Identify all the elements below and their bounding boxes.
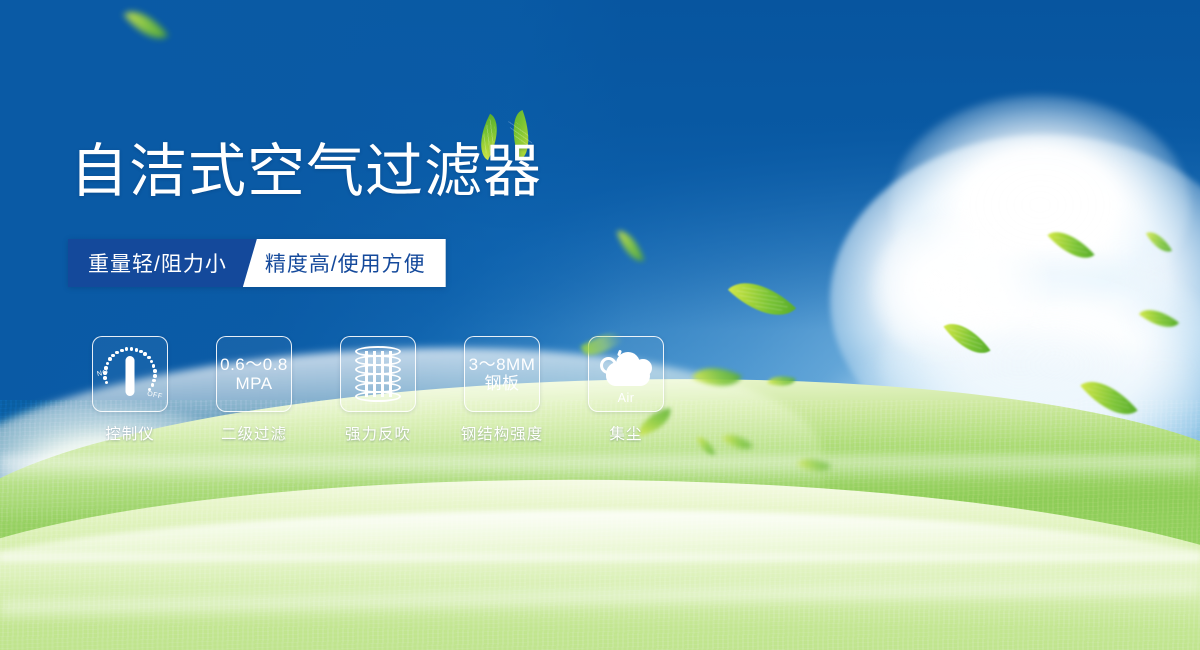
page-title: 自洁式空气过滤器 [70, 143, 542, 201]
gauge-tick [103, 376, 107, 380]
cartridge-pleat [389, 351, 392, 397]
gauge-tick [115, 351, 119, 355]
filter-cartridge-icon [351, 346, 405, 402]
gauge-tick [152, 364, 156, 368]
gauge-tick [152, 379, 156, 383]
gauge-tick [120, 349, 124, 353]
gauge-tick [135, 348, 139, 352]
gauge-tick [143, 352, 147, 356]
feature-icon-box: 3～8MM 钢板 [464, 336, 540, 412]
gauge-tick [106, 362, 110, 366]
cartridge-ring [355, 391, 401, 402]
feature-icon-box: 0.6～0.8 MPA [216, 336, 292, 412]
feature-item-backblow[interactable]: 强力反吹 [316, 336, 440, 444]
pressure-value: 0.6～0.8 [220, 355, 288, 374]
cartridge-pleat [381, 351, 384, 397]
air-label: Air [596, 391, 656, 405]
feature-item-two-stage-filter[interactable]: 0.6～0.8 MPA 二级过滤 [192, 336, 316, 444]
gauge-needle [126, 356, 135, 396]
pressure-text-icon: 0.6～0.8 MPA [220, 355, 288, 393]
feature-icon-box: Air [588, 336, 664, 412]
gauge-tick [103, 371, 107, 375]
feature-icon-box [340, 336, 416, 412]
cloud-air-icon: Air [596, 346, 656, 402]
steel-thickness: 3～8MM [469, 355, 536, 374]
gauge-tick [139, 350, 143, 354]
cartridge-pleat [373, 351, 376, 397]
cartridge-pleat [365, 351, 368, 397]
gauge-tick [108, 357, 112, 361]
steel-plate-text-icon: 3～8MM 钢板 [469, 355, 536, 393]
gauge-off-label: OFF [146, 390, 163, 400]
cloud-body [606, 362, 650, 386]
feature-list: NO OFF 控制仪 0.6～0.8 MPA 二级过滤 [68, 336, 688, 444]
feature-label: 控制仪 [105, 422, 155, 444]
subtitle-bar: 重量轻/阻力小 精度高/使用方便 [68, 239, 446, 287]
gauge-tick [153, 374, 157, 378]
gauge-icon: NO OFF [99, 343, 161, 405]
gauge-tick [125, 347, 129, 351]
subtitle-left: 重量轻/阻力小 [68, 239, 257, 287]
feature-label: 钢结构强度 [461, 422, 544, 444]
gauge-tick [111, 354, 115, 358]
product-banner: 自洁式空气过滤器 重量轻/阻力小 精度高/使用方便 NO OFF 控制仪 0.6… [0, 0, 1200, 650]
gauge-tick [147, 356, 151, 360]
subtitle-right: 精度高/使用方便 [243, 239, 446, 287]
gauge-tick [105, 381, 109, 385]
feature-icon-box: NO OFF [92, 336, 168, 412]
gauge-tick [150, 360, 154, 364]
feature-label: 强力反吹 [345, 422, 411, 444]
feature-item-steel-strength[interactable]: 3～8MM 钢板 钢结构强度 [440, 336, 564, 444]
feature-label: 二级过滤 [221, 422, 287, 444]
pressure-unit: MPA [220, 374, 288, 393]
gauge-tick [153, 369, 157, 373]
feature-label: 集尘 [609, 422, 642, 444]
steel-material: 钢板 [469, 374, 536, 393]
feature-item-dust-collection[interactable]: Air 集尘 [564, 336, 688, 444]
gauge-tick [151, 383, 155, 387]
gauge-tick [130, 347, 134, 351]
feature-item-controller[interactable]: NO OFF 控制仪 [68, 336, 192, 444]
gauge-tick [104, 366, 108, 370]
